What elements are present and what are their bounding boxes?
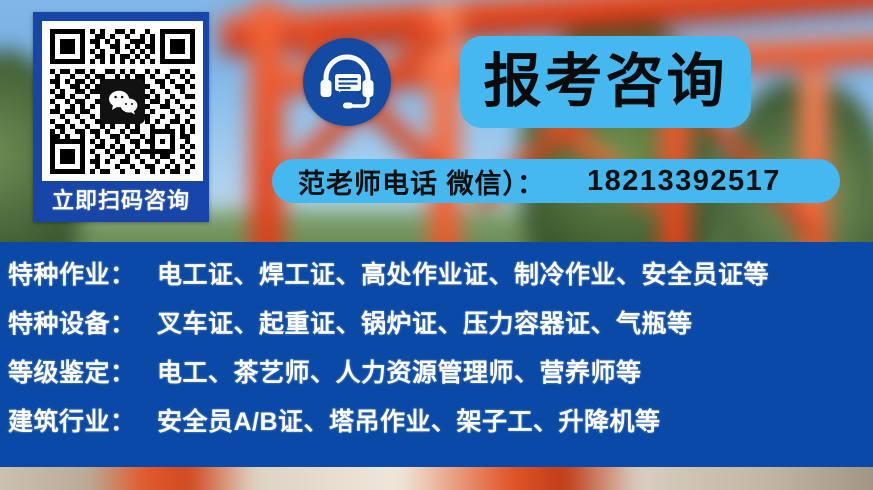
category-items: 电工证、焊工证、高处作业证、制冷作业、安全员证等 (157, 261, 769, 289)
support-headset-badge (303, 38, 391, 126)
headline-pill: 报考咨询 (460, 36, 751, 128)
contact-phone-pill[interactable]: 范老师电话 微信）： 18213392517 (272, 159, 840, 203)
category-label: 特种设备： (8, 310, 136, 338)
qr-code-image[interactable] (42, 21, 203, 181)
category-items: 电工、茶艺师、人力资源管理师、营养师等 (157, 359, 642, 387)
contact-phone-number[interactable]: 18213392517 (587, 165, 781, 198)
qr-caption: 立即扫码咨询 (36, 183, 206, 215)
category-row-grade-appraisal: 等级鉴定： 电工、茶艺师、人力资源管理师、营养师等 (8, 353, 641, 389)
wechat-glyph (108, 89, 138, 115)
contact-label: 范老师电话 微信）： (298, 162, 545, 201)
category-row-special-operations: 特种作业： 电工证、焊工证、高处作业证、制冷作业、安全员证等 (8, 255, 769, 291)
category-label: 特种作业： (8, 261, 136, 289)
category-items: 安全员A/B证、塔吊作业、架子工、升降机等 (157, 408, 661, 436)
qr-code-card[interactable]: 立即扫码咨询 (33, 12, 209, 222)
category-row-construction-industry: 建筑行业： 安全员A/B证、塔吊作业、架子工、升降机等 (8, 402, 661, 438)
wechat-icon (100, 79, 145, 124)
category-label: 建筑行业： (8, 408, 136, 436)
category-label: 等级鉴定： (8, 359, 136, 387)
bottom-photo-strip-blur (0, 467, 873, 490)
headline-text: 报考咨询 (483, 53, 727, 111)
category-items: 叉车证、起重证、锅炉证、压力容器证、气瓶等 (157, 310, 693, 338)
headset-support-icon (318, 54, 376, 110)
category-row-special-equipment: 特种设备： 叉车证、起重证、锅炉证、压力容器证、气瓶等 (8, 304, 692, 340)
bottom-photo-strip (0, 467, 873, 490)
promo-poster: 立即扫码咨询 报考咨询 范老师电话 微信）： 18213392517 特种作业：… (0, 0, 873, 490)
certificate-categories-panel: 特种作业： 电工证、焊工证、高处作业证、制冷作业、安全员证等 特种设备： 叉车证… (0, 242, 873, 467)
